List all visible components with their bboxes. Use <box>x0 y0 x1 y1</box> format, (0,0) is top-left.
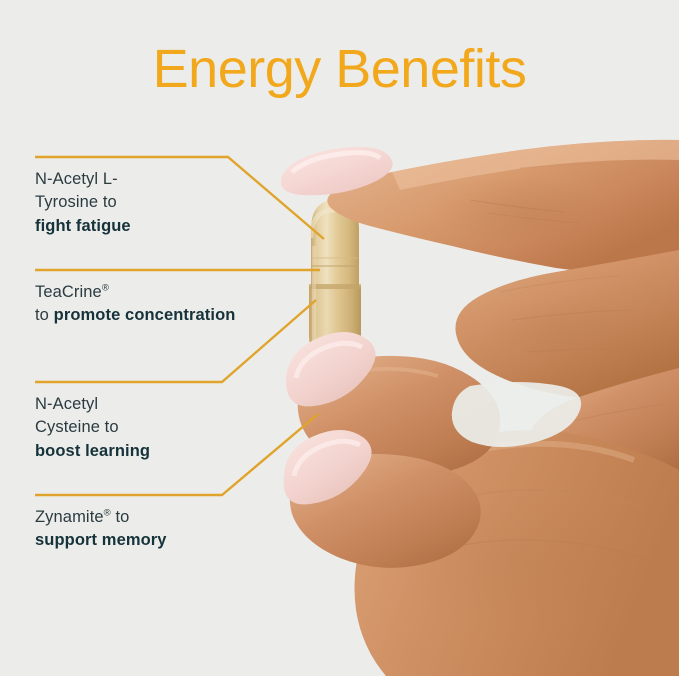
callout-3-line-1: N-Acetyl <box>35 395 98 413</box>
lower-fingers <box>528 368 679 483</box>
callout-2-benefit: promote concentration <box>54 306 236 324</box>
callout-label-3: N-Acetyl Cysteine to boost learning <box>35 393 250 463</box>
callout-label-4: Zynamite® to support memory <box>35 506 250 553</box>
callout-2-line-1: TeaCrine <box>35 283 102 301</box>
manicured-fingernail-lower <box>284 430 372 504</box>
registered-mark-zynamite: ® <box>104 508 111 519</box>
middle-finger <box>455 250 679 399</box>
callout-4-benefit: support memory <box>35 531 167 549</box>
product-photo <box>0 0 679 676</box>
callout-3-line-2: Cysteine to <box>35 418 119 436</box>
pinching-finger <box>286 332 500 477</box>
connector-lines <box>0 0 679 676</box>
callout-label-2: TeaCrine® to promote concentration <box>35 281 250 328</box>
index-finger <box>281 140 679 272</box>
capsule-image <box>309 200 361 364</box>
registered-mark-teacrine: ® <box>102 283 109 294</box>
page-title: Energy Benefits <box>0 42 679 96</box>
callout-3-benefit: boost learning <box>35 442 150 460</box>
callout-1-benefit: fight fatigue <box>35 217 131 235</box>
callout-4-line-2: to <box>111 508 130 526</box>
callout-1-line-2: Tyrosine to <box>35 193 117 211</box>
manicured-fingernail-upper <box>281 147 393 195</box>
callout-1-line-1: N-Acetyl L- <box>35 170 118 188</box>
energy-benefits-infographic: Energy Benefits N-Acetyl L- Tyrosine to … <box>0 0 679 676</box>
lower-finger <box>284 430 481 568</box>
callout-label-1: N-Acetyl L- Tyrosine to fight fatigue <box>35 168 250 238</box>
callout-4-line-1: Zynamite <box>35 508 104 526</box>
thumb <box>355 430 679 676</box>
callout-2-line-2: to <box>35 306 54 324</box>
manicured-fingernail-middle <box>286 332 376 406</box>
finger-gap <box>452 382 581 447</box>
